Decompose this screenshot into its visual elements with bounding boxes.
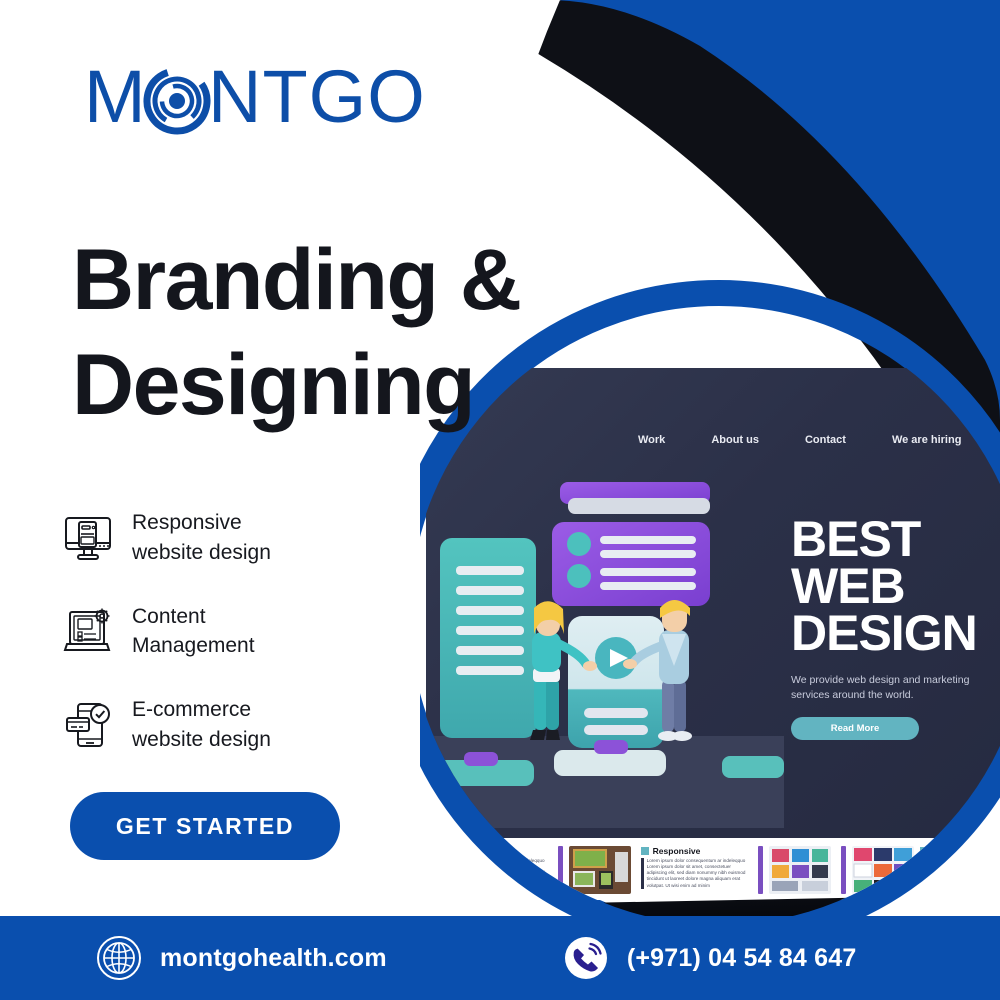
get-started-button[interactable]: GET STARTED — [70, 792, 340, 860]
card-responsive: Responsive Lorem ipsum dolor consequentu… — [641, 846, 832, 894]
card-accent-bar — [641, 858, 644, 889]
card-title: Responsive — [653, 846, 701, 856]
headline-line-1: Branding & — [72, 228, 542, 333]
responsive-monitor-icon — [62, 512, 114, 564]
feature-label: Responsive website design — [132, 508, 271, 568]
hero-title-line-1: BEST — [791, 516, 1000, 563]
hero-3d-illustration — [434, 468, 784, 828]
phone-number[interactable]: (+971) 04 54 84 647 — [627, 944, 857, 973]
nav-item-contact[interactable]: Contact — [805, 434, 846, 446]
logo-letters-ntgo: NTGO — [208, 62, 426, 138]
content-management-icon — [62, 605, 114, 657]
headline-line-2: Designing — [72, 333, 542, 438]
feature-label: E-commerce website design — [132, 695, 271, 755]
brand-logo[interactable]: M NTGO — [84, 62, 444, 140]
poster-canvas: M NTGO Branding & Designing — [0, 0, 1000, 1000]
website-url[interactable]: montgohealth.com — [160, 944, 387, 973]
hero-title-line-2: WEB — [791, 563, 1000, 610]
hero-title-line-3: DESIGN — [791, 610, 1000, 657]
ecommerce-icon — [62, 699, 114, 751]
nav-item-we-are-hiring[interactable]: We are hiring — [892, 434, 961, 446]
hero-title: BEST WEB DESIGN — [791, 516, 1000, 657]
logo-wordmark: M NTGO — [84, 62, 444, 140]
mockup-nav: Work About us Contact We are hiring — [638, 434, 1000, 446]
nav-item-work[interactable]: Work — [638, 434, 665, 446]
card-divider — [758, 846, 763, 894]
globe-icon — [96, 935, 142, 981]
mockup-screen: Work About us Contact We are hiring — [426, 368, 1000, 838]
hero-subtitle: We provide web design and marketing serv… — [791, 673, 1000, 703]
nav-item-about-us[interactable]: About us — [711, 434, 759, 446]
feature-label: Content Management — [132, 602, 255, 662]
card-thumbnail-image — [769, 846, 831, 894]
feature-list: Responsive website design Cont — [62, 508, 392, 789]
feature-item-responsive: Responsive website design — [62, 508, 392, 568]
logo-letter-m: M — [84, 62, 146, 138]
feature-item-content-management: Content Management — [62, 602, 392, 662]
phone-ringing-icon — [563, 935, 609, 981]
footer-bar: montgohealth.com (+971) 04 54 84 647 — [0, 916, 1000, 1000]
card-divider — [841, 846, 846, 894]
page-title: Branding & Designing — [72, 228, 542, 438]
read-more-button[interactable]: Read More — [791, 717, 919, 740]
logo-spiral-icon — [135, 62, 219, 140]
mockup-hero: BEST WEB DESIGN We provide web design an… — [791, 516, 1000, 740]
card-text: Lorem ipsum dolor consequentum ar indele… — [647, 858, 753, 889]
footer-website[interactable]: montgohealth.com — [96, 935, 387, 981]
card-bullet-icon — [641, 847, 649, 855]
footer-phone[interactable]: (+971) 04 54 84 647 — [563, 935, 857, 981]
card-thumbnail-image — [569, 846, 631, 894]
feature-item-ecommerce: E-commerce website design — [62, 695, 392, 755]
